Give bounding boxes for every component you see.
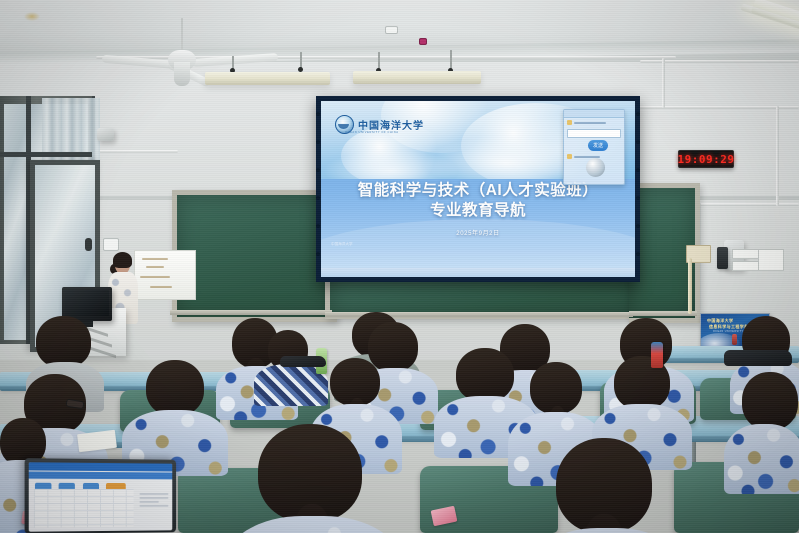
chat-avatar-icon bbox=[567, 120, 572, 125]
ceiling-fan-motor bbox=[174, 62, 190, 86]
screen-eyelet bbox=[636, 252, 640, 256]
university-logo-subtext: OCEAN UNIVERSITY OF CHINA bbox=[345, 131, 399, 134]
student-head bbox=[36, 316, 91, 368]
ceiling-sensor bbox=[385, 26, 398, 34]
whiteboard-writing bbox=[146, 266, 164, 268]
student-head bbox=[742, 372, 798, 430]
screen-eyelet bbox=[316, 140, 320, 144]
laptop-side-panel bbox=[139, 491, 168, 509]
wall-conduit-drop bbox=[776, 106, 779, 206]
chat-profile-avatar[interactable] bbox=[586, 158, 605, 177]
projection-screen: 中国海洋大学 OCEAN UNIVERSITY OF CHINA 智能科学与技术… bbox=[316, 96, 640, 282]
wall-outlet-left[interactable] bbox=[103, 238, 119, 251]
university-logo-text: 中国海洋大学 bbox=[358, 117, 424, 132]
student-uniform bbox=[724, 424, 799, 494]
fluorescent-tube-1 bbox=[205, 72, 330, 85]
panel-line bbox=[139, 493, 168, 495]
screen-eyelet bbox=[636, 196, 640, 200]
window-mullion-h bbox=[0, 152, 92, 157]
presentation-slide: 中国海洋大学 OCEAN UNIVERSITY OF CHINA 智能科学与技术… bbox=[321, 101, 635, 277]
chat-window[interactable]: 发送 bbox=[563, 109, 625, 185]
wall-conduit-vertical bbox=[662, 58, 665, 108]
whiteboard-writing bbox=[142, 258, 168, 260]
chat-list-item[interactable] bbox=[564, 118, 624, 127]
screen-eyelet bbox=[636, 224, 640, 228]
poster-figure-graphic bbox=[732, 334, 737, 345]
student-laptop[interactable] bbox=[25, 458, 176, 533]
ceiling-sensor-led bbox=[419, 38, 427, 45]
screen-eyelet bbox=[636, 168, 640, 172]
bag-on-rear-desk bbox=[280, 356, 326, 367]
slide-date: 2025年9月2日 bbox=[321, 228, 635, 237]
podium-monitor-screen bbox=[65, 290, 109, 316]
light-stem-4 bbox=[450, 50, 452, 70]
fluorescent-tube-2 bbox=[353, 71, 481, 84]
laptop-app-titlebar bbox=[29, 462, 173, 471]
screen-eyelet bbox=[636, 112, 640, 116]
chat-item-label bbox=[574, 122, 606, 124]
wall-placard-3 bbox=[758, 249, 784, 271]
wall-speaker-left bbox=[97, 128, 114, 141]
presenter-hair bbox=[113, 252, 132, 268]
chalk-tray-left bbox=[170, 310, 332, 315]
laptop-spreadsheet-grid[interactable] bbox=[34, 489, 134, 528]
whiteboard-writing bbox=[150, 286, 172, 288]
panel-line bbox=[139, 505, 168, 507]
water-bottle-red bbox=[651, 342, 663, 368]
screen-eyelet bbox=[316, 112, 320, 116]
backpack-on-desk bbox=[724, 350, 792, 366]
poster-line-2: 信息科学与工程学部 bbox=[709, 324, 749, 330]
whiteboard-writing bbox=[140, 276, 170, 278]
laptop-screen[interactable] bbox=[29, 462, 173, 531]
chalk-tray-right bbox=[629, 311, 697, 316]
green-chalkboard-left bbox=[172, 190, 337, 322]
student-head bbox=[456, 348, 514, 402]
slide-title: 智能科学与技术（AI人才实验班） 专业教育导航 bbox=[321, 181, 635, 221]
screen-eyelet bbox=[316, 252, 320, 256]
screen-eyelet bbox=[636, 140, 640, 144]
slide-footer-note: 中国海洋大学 bbox=[331, 242, 353, 247]
wall-conduit-left bbox=[92, 150, 178, 153]
student-head bbox=[368, 322, 418, 372]
chat-send-button[interactable]: 发送 bbox=[588, 140, 608, 151]
chat-search-input[interactable] bbox=[567, 129, 621, 138]
notebook-page bbox=[77, 430, 117, 452]
wall-led-clock: 19:09:29 bbox=[678, 150, 734, 168]
slide-footer-bar bbox=[321, 268, 635, 277]
wall-card-reader[interactable] bbox=[717, 247, 728, 269]
slide-title-line2: 专业教育导航 bbox=[321, 201, 635, 221]
monitor-screen-glow bbox=[24, 12, 40, 21]
panel-line bbox=[139, 497, 168, 499]
chat-titlebar bbox=[564, 110, 624, 118]
panel-line bbox=[139, 501, 158, 503]
ceiling-fan-rod bbox=[181, 18, 183, 52]
right-wall-pipe bbox=[688, 258, 692, 314]
clock-time: 19:09:29 bbox=[678, 153, 735, 166]
screen-eyelet bbox=[316, 224, 320, 228]
wall-placard-1 bbox=[732, 249, 760, 259]
screen-eyelet bbox=[316, 196, 320, 200]
window-handle[interactable] bbox=[85, 238, 92, 251]
wall-conduit-horizontal bbox=[620, 106, 799, 109]
slide-title-line1: 智能科学与技术（AI人才实验班） bbox=[358, 182, 599, 199]
chat-avatar-icon bbox=[567, 154, 572, 159]
wall-placard-2 bbox=[732, 261, 760, 271]
student-head bbox=[146, 360, 204, 416]
classroom-photo: 中国海洋大学 OCEAN UNIVERSITY OF CHINA 智能科学与技术… bbox=[0, 0, 799, 533]
screen-eyelet bbox=[316, 168, 320, 172]
